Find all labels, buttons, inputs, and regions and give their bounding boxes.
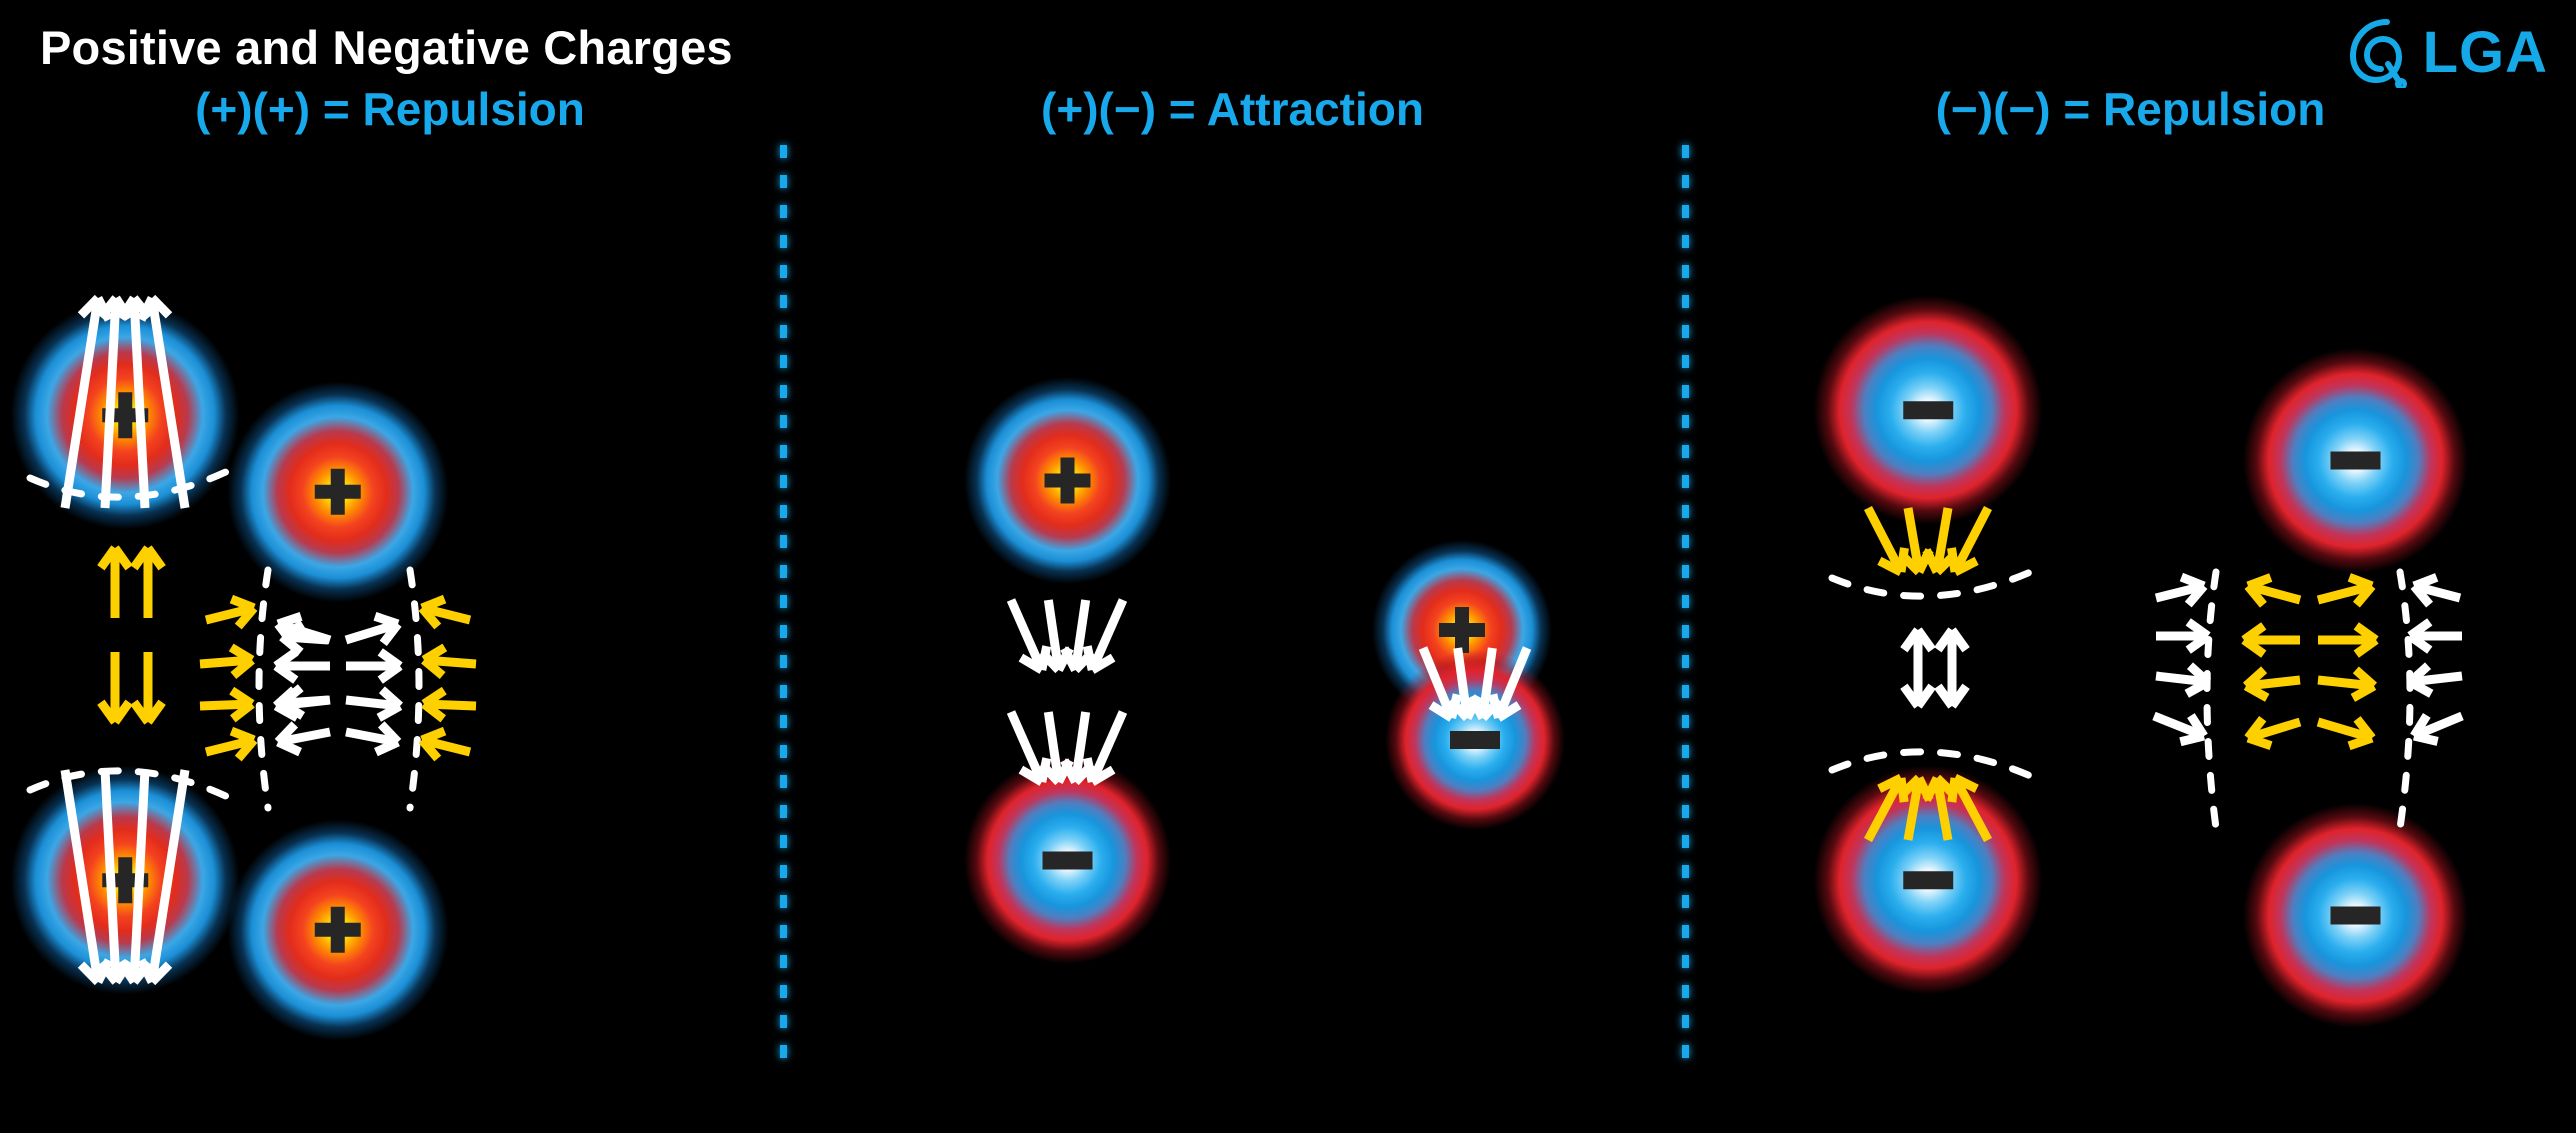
diagram-canvas: Positive and Negative Charges LGA (+)(+)…: [0, 0, 2576, 1133]
panel-repulsion-negative: (−)(−) = Repulsion: [1685, 0, 2576, 1133]
panel-heading-attraction: (+)(−) = Attraction: [780, 82, 1685, 136]
panel-heading-repulsion-positive: (+)(+) = Repulsion: [0, 82, 780, 136]
panel-heading-repulsion-negative: (−)(−) = Repulsion: [1685, 82, 2576, 136]
panel-attraction: (+)(−) = Attraction: [780, 0, 1685, 1133]
panel-repulsion-positive: (+)(+) = Repulsion: [0, 0, 780, 1133]
